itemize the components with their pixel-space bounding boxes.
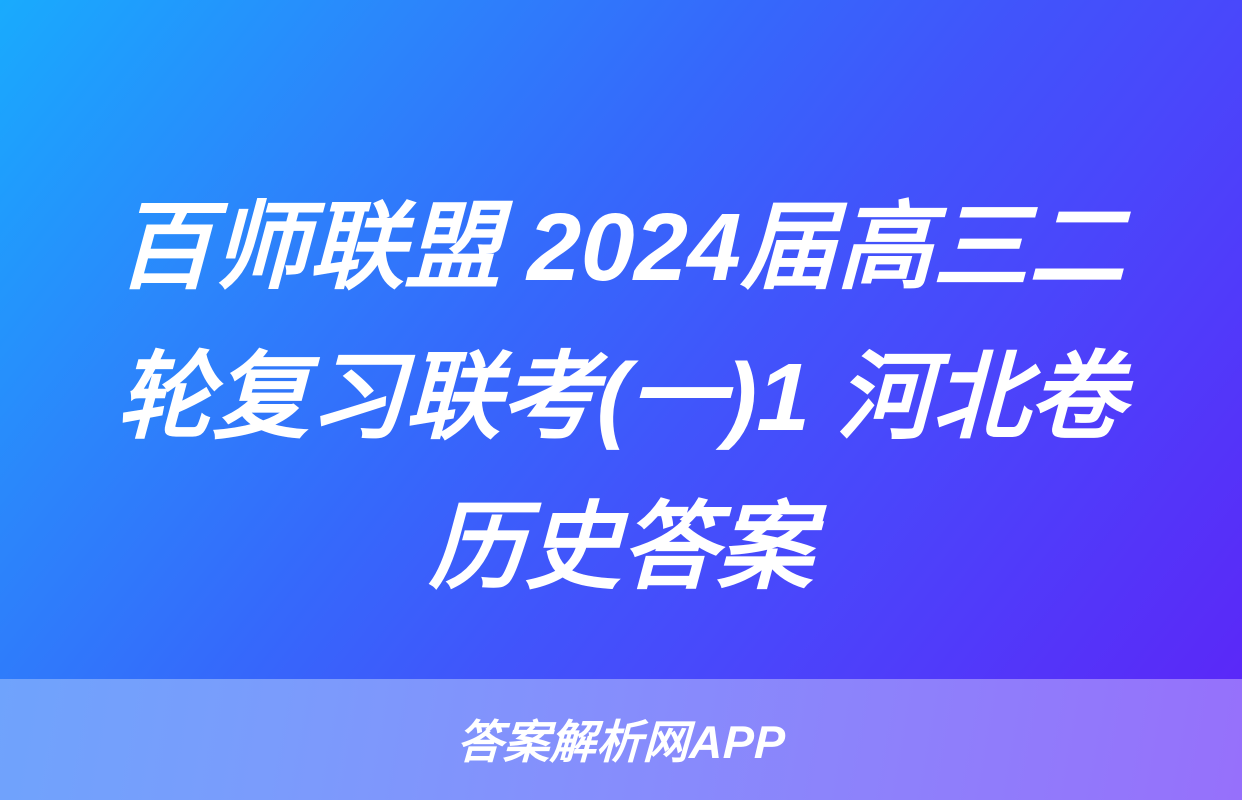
app-name-label: 答案解析网APP: [456, 715, 786, 765]
app-watermark-banner: 答案解析网APP: [0, 679, 1242, 800]
title-line-2: 轮复习联考(一)1 河北卷: [0, 323, 1242, 473]
page-title: 百师联盟 2024届高三二 轮复习联考(一)1 河北卷 历史答案: [0, 173, 1242, 623]
title-line-3: 历史答案: [0, 473, 1242, 623]
title-line-1: 百师联盟 2024届高三二: [0, 173, 1242, 323]
exam-cover-card: 百师联盟 2024届高三二 轮复习联考(一)1 河北卷 历史答案 答案解析网AP…: [0, 0, 1242, 800]
